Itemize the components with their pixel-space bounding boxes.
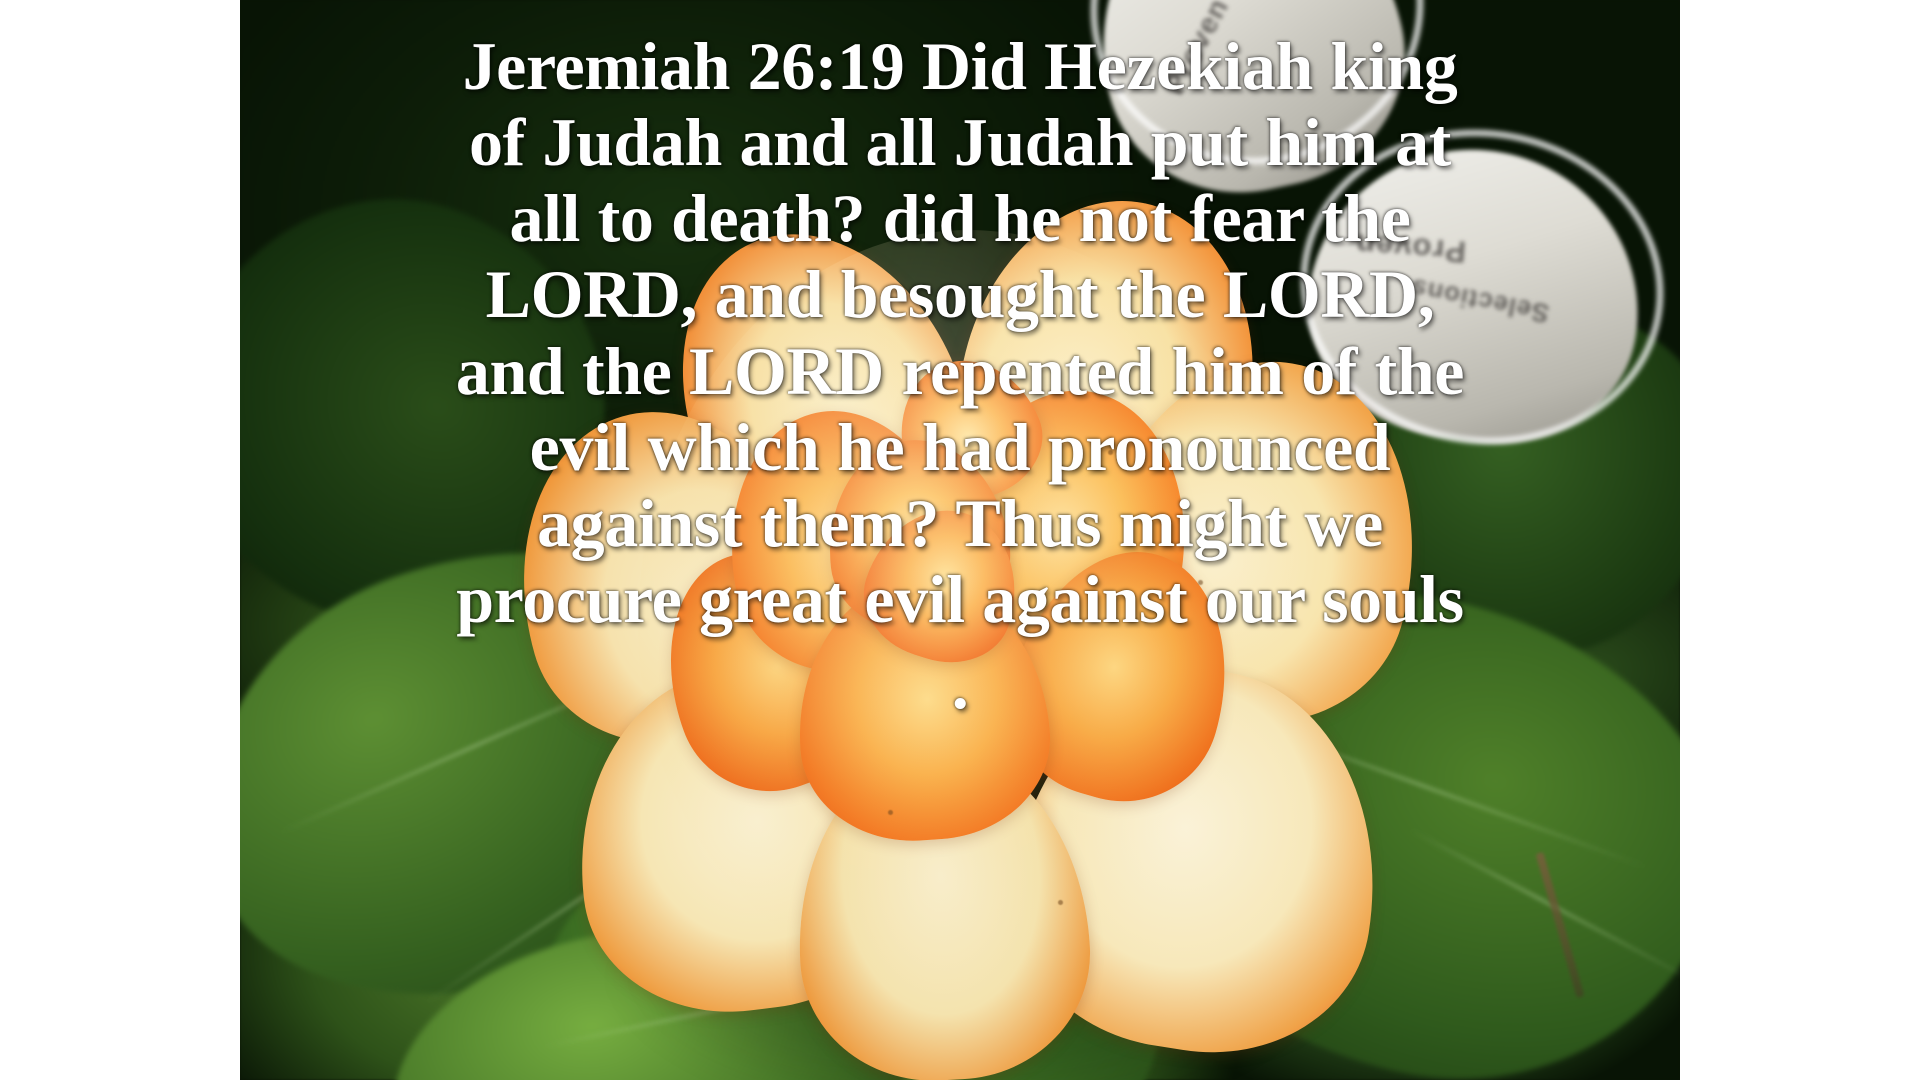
verse-line: of Judah and all Judah put him at <box>282 104 1638 180</box>
verse-line-period: . <box>282 647 1638 723</box>
verse-line: procure great evil against our souls <box>282 561 1638 637</box>
verse-line: all to death? did he not fear the <box>282 180 1638 256</box>
verse-line: against them? Thus might we <box>282 485 1638 561</box>
verse-line: LORD, and besought the LORD, <box>282 256 1638 332</box>
verse-line: evil which he had pronounced <box>282 409 1638 485</box>
petal-speck <box>888 810 893 815</box>
verse-overlay: Jeremiah 26:19 Did Hezekiah king of Juda… <box>240 0 1680 723</box>
verse-line: and the LORD repented him of the <box>282 333 1638 409</box>
verse-line: Jeremiah 26:19 Did Hezekiah king <box>282 28 1638 104</box>
background-photo: Proven Proven Selections <box>240 0 1680 1080</box>
petal-speck <box>1058 900 1063 905</box>
slide-canvas: Proven Proven Selections <box>0 0 1920 1080</box>
